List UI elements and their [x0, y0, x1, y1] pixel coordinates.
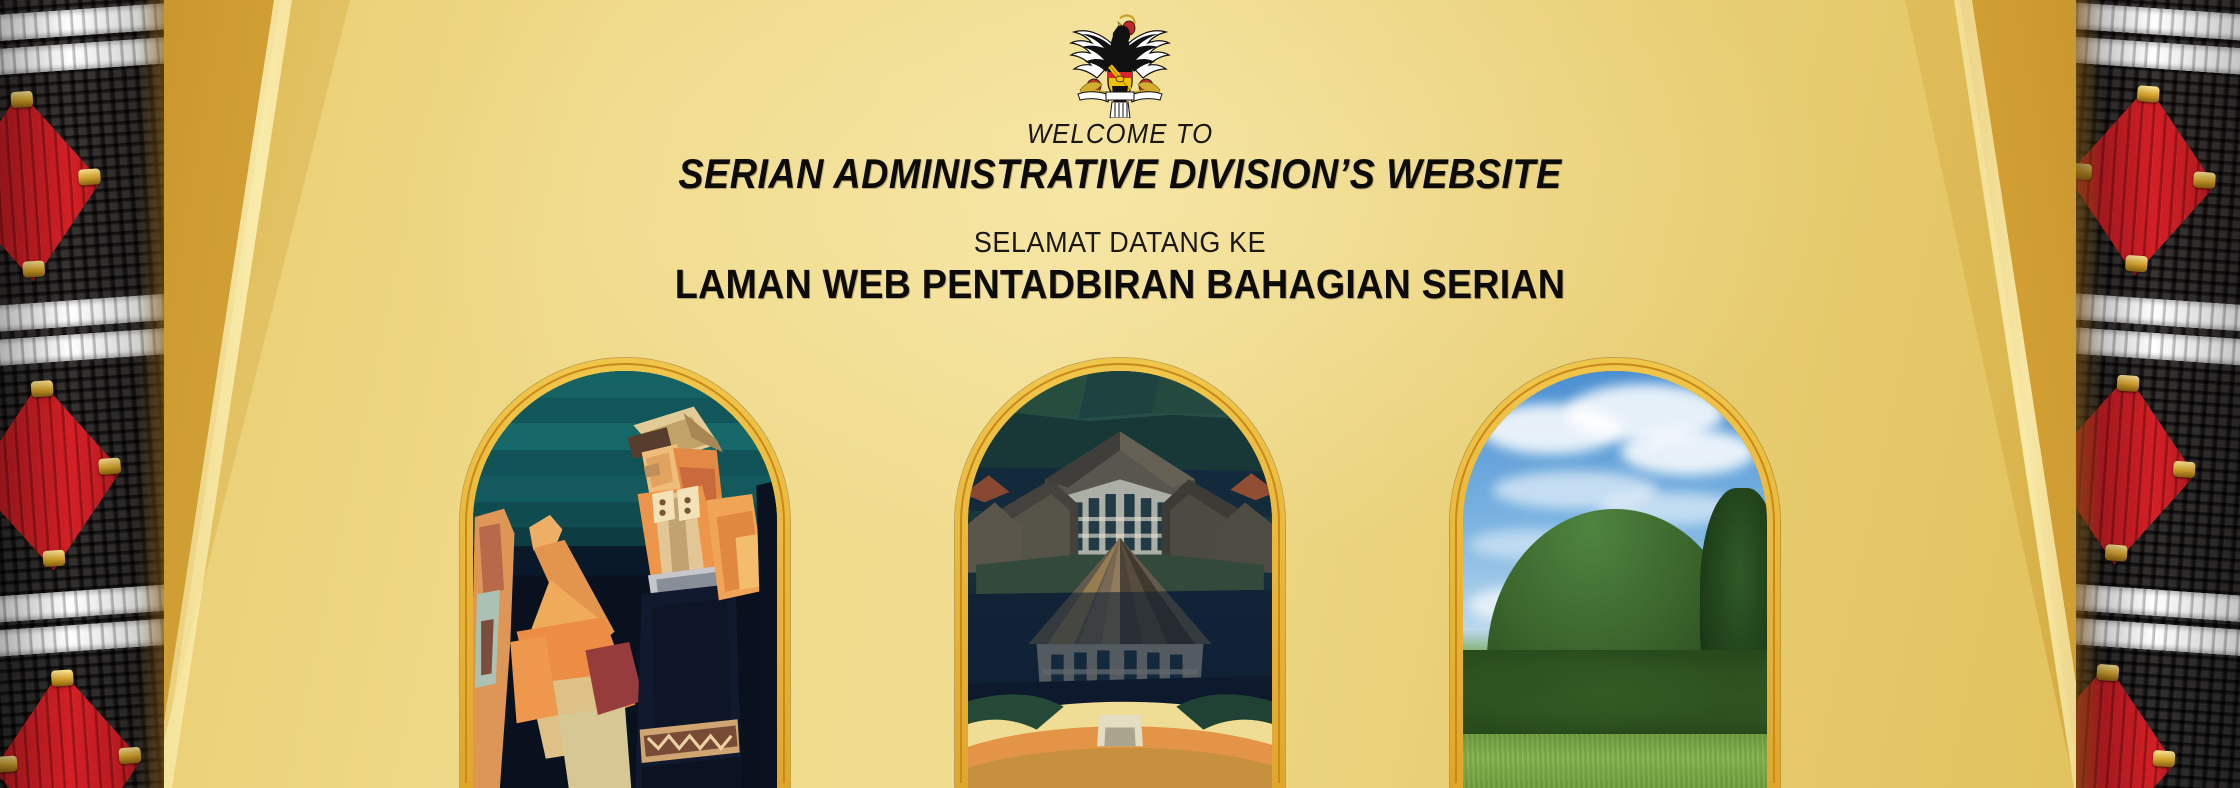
welcome-to-label: WELCOME TO [90, 118, 2151, 149]
scrub-vegetation [1463, 650, 1767, 742]
welcome-banner: WELCOME TO SERIAN ADMINISTRATIVE DIVISIO… [0, 0, 2240, 788]
arch-panel-dancers[interactable] [460, 358, 790, 788]
artwork-traditional-dancers [473, 371, 777, 788]
arch-window-building [968, 371, 1272, 788]
arch-window-hill [1463, 371, 1767, 788]
heading-group: WELCOME TO SERIAN ADMINISTRATIVE DIVISIO… [0, 118, 2240, 309]
page-title-english: SERIAN ADMINISTRATIVE DIVISION’S WEBSITE [112, 149, 2128, 199]
arch-panel-group [460, 358, 1780, 788]
arch-panel-hill[interactable] [1450, 358, 1780, 788]
page-title-malay: LAMAN WEB PENTADBIRAN BAHAGIAN SERIAN [90, 260, 2151, 309]
artwork-hill-landscape [1463, 371, 1767, 788]
selamat-datang-label: SELAMAT DATANG KE [78, 227, 2161, 260]
sarawak-coat-of-arms-icon [1060, 6, 1180, 118]
artwork-administrative-building [968, 371, 1272, 788]
grass-field [1463, 734, 1767, 788]
arch-panel-building[interactable] [955, 358, 1285, 788]
arch-window-dancers [473, 371, 777, 788]
